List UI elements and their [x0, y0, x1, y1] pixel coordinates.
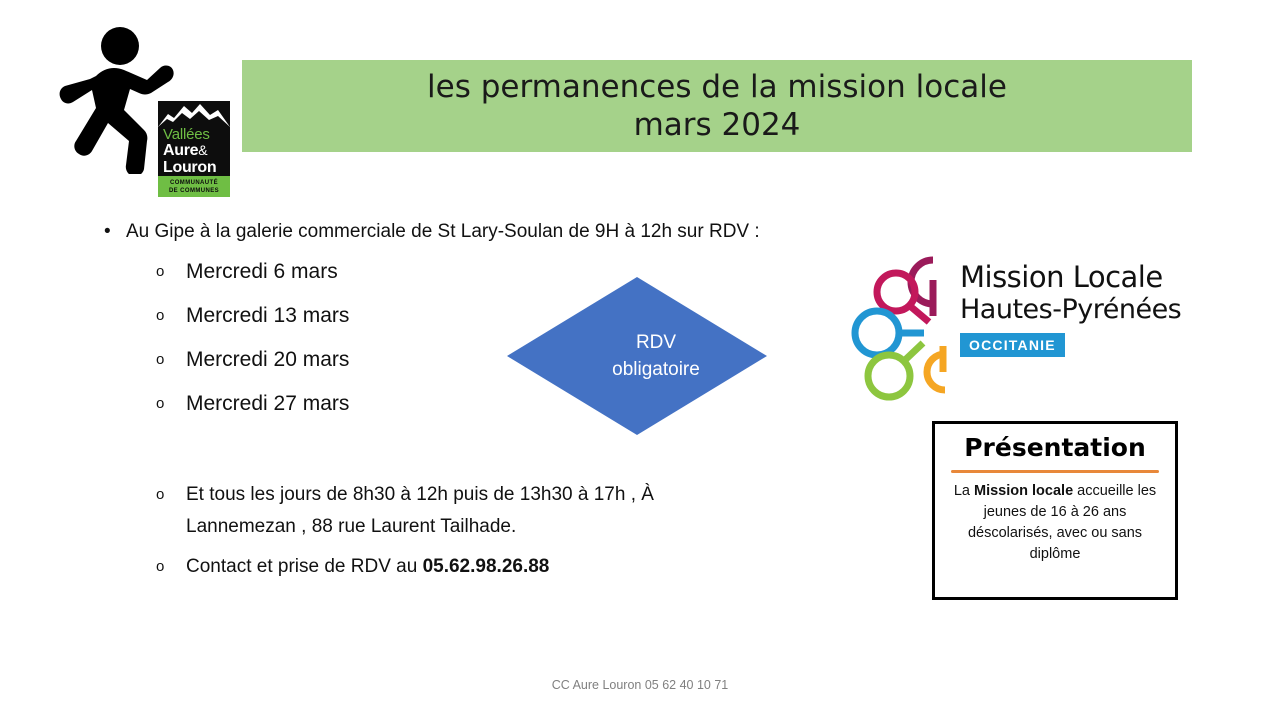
vallees-logo-aure: Aure [163, 142, 198, 159]
title-banner: les permanences de la mission locale mar… [242, 60, 1192, 152]
hours-text: Et tous les jours de 8h30 à 12h puis de … [186, 479, 856, 543]
title-line-2: mars 2024 [427, 106, 1007, 144]
hours-contact-list: o Et tous les jours de 8h30 à 12h puis d… [156, 479, 856, 591]
mission-locale-wordmark: Mission Locale Hautes-Pyrénées OCCITANIE [960, 260, 1186, 357]
sub-bullet-marker: o [156, 389, 186, 419]
title-line-1: les permanences de la mission locale [427, 69, 1007, 105]
presentation-title: Présentation [945, 432, 1165, 464]
bullet-marker: • [104, 219, 126, 245]
page-title: les permanences de la mission locale mar… [427, 68, 1007, 144]
vallees-aure-louron-logo: Vallées Aure& Louron COMMUNAUTÉ DE COMMU… [158, 101, 230, 197]
sub-bullet-marker: o [156, 479, 186, 511]
vallees-logo-ampersand: & [198, 142, 207, 158]
slide-footer: CC Aure Louron 05 62 40 10 71 [0, 678, 1280, 692]
contact-prefix: Contact et prise de RDV au [186, 556, 423, 577]
hours-line-1: Et tous les jours de 8h30 à 12h puis de … [186, 484, 654, 505]
vallees-logo-footer-line2: DE COMMUNES [158, 187, 230, 195]
vallees-logo-wordmark: Vallées Aure& Louron [158, 127, 230, 176]
occitanie-badge: OCCITANIE [960, 333, 1065, 357]
main-bullet-line: •Au Gipe à la galerie commerciale de St … [104, 219, 760, 245]
vallees-logo-footer: COMMUNAUTÉ DE COMMUNES [158, 176, 230, 197]
rdv-diamond-shape: RDV obligatoire [507, 277, 767, 435]
list-item: o Et tous les jours de 8h30 à 12h puis d… [156, 479, 856, 543]
vallees-logo-line1: Vallées [163, 127, 225, 142]
sub-bullet-marker: o [156, 257, 186, 287]
vallees-logo-footer-line1: COMMUNAUTÉ [158, 179, 230, 187]
presentation-body: La Mission locale accueille les jeunes d… [945, 481, 1165, 565]
sub-bullet-marker: o [156, 551, 186, 583]
presentation-box: Présentation La Mission locale accueille… [932, 421, 1178, 600]
mission-locale-logo: Mission Locale Hautes-Pyrénées OCCITANIE [850, 250, 1186, 412]
mission-locale-logo-mark-icon [850, 250, 955, 410]
presentation-divider [951, 470, 1159, 473]
contact-text: Contact et prise de RDV au 05.62.98.26.8… [186, 551, 856, 583]
mission-locale-line2: Hautes-Pyrénées [960, 294, 1186, 326]
contact-phone-number: 05.62.98.26.88 [423, 556, 550, 577]
mountain-icon [158, 101, 230, 127]
main-bullet-text: Au Gipe à la galerie commerciale de St L… [126, 221, 760, 242]
slide-canvas: Vallées Aure& Louron COMMUNAUTÉ DE COMMU… [0, 0, 1280, 720]
presentation-body-strong: Mission locale [974, 483, 1073, 499]
mission-locale-line1: Mission Locale [960, 260, 1186, 294]
sub-bullet-marker: o [156, 345, 186, 375]
list-item: o Contact et prise de RDV au 05.62.98.26… [156, 551, 856, 583]
sub-bullet-marker: o [156, 301, 186, 331]
presentation-body-prefix: La [954, 483, 974, 499]
hours-line-2: Lannemezan , 88 rue Laurent Tailhade. [186, 516, 516, 537]
vallees-logo-line2: Aure& [163, 142, 225, 159]
vallees-logo-line3: Louron [163, 159, 225, 176]
